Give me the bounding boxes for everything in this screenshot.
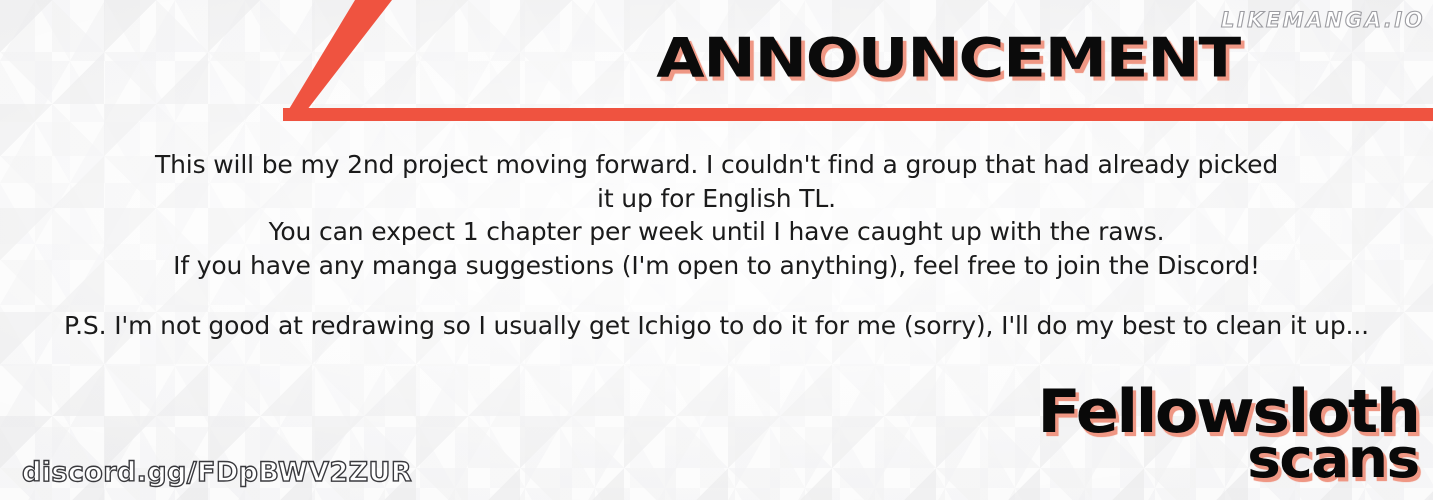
body-line-postscript: P.S. I'm not good at redrawing so I usua… [0,309,1433,343]
body-line: This will be my 2nd project moving forwa… [0,148,1433,182]
scanlation-group-logo: Fellowsloth scans [1059,382,1419,486]
page-title: announcement [540,4,1240,100]
brand-secondary-text: scans [1041,432,1419,486]
announcement-banner: announcement LIKEMANGA.IO This will be m… [0,0,1433,500]
accent-horizontal-stroke [283,108,1433,121]
announcement-body: This will be my 2nd project moving forwa… [0,148,1433,343]
page-title-text: announcement [414,3,1240,97]
body-line: If you have any manga suggestions (I'm o… [0,249,1433,283]
paragraph-spacer [0,282,1433,309]
body-line: You can expect 1 chapter per week until … [0,215,1433,249]
site-watermark: LIKEMANGA.IO [1221,8,1425,32]
discord-invite-link[interactable]: discord.gg/FDpBWV2ZUR [22,457,412,488]
accent-diagonal-stroke [283,0,392,119]
body-line: it up for English TL. [0,182,1433,216]
